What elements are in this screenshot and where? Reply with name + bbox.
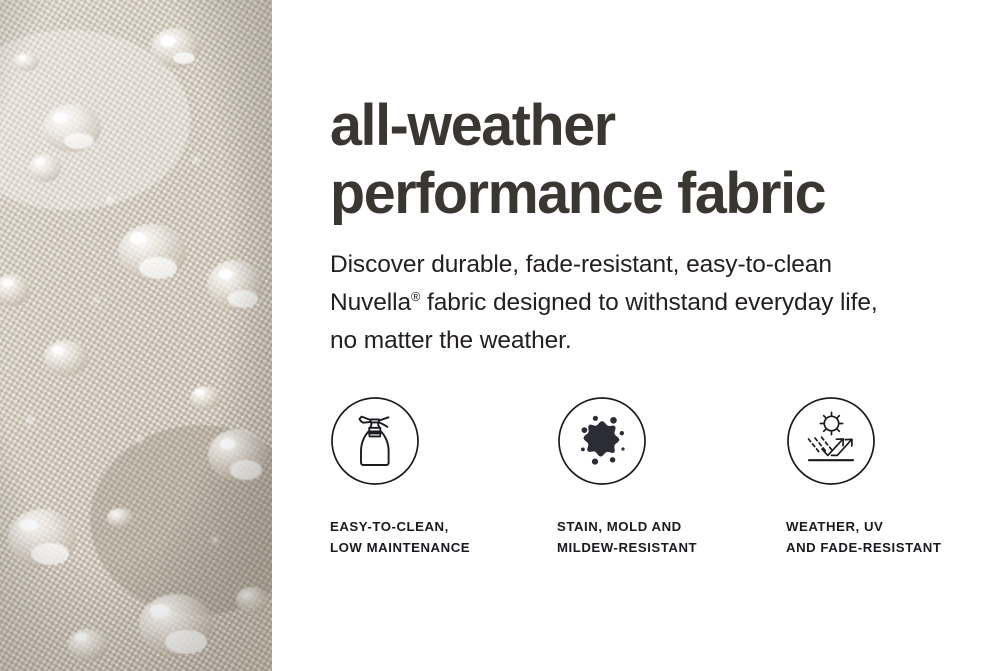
feature-caption: WEATHER, UV AND FADE-RESISTANT [786,486,1001,558]
fabric-photo [0,0,272,671]
brand-name: Nuvella [330,289,411,316]
registered-mark: ® [411,289,420,304]
feature-caption-line-2: MILDEW-RESISTANT [557,537,772,558]
page-title: all-weather performance fabric [330,92,983,228]
feature-easy-to-clean: EASY-TO-CLEAN, LOW MAINTENANCE [330,396,545,558]
feature-badge-list: EASY-TO-CLEAN, LOW MAINTENANCE [330,396,990,576]
content-column: all-weather performance fabric Discover … [330,0,990,671]
feature-caption: EASY-TO-CLEAN, LOW MAINTENANCE [330,486,545,558]
description-line-3: no matter the weather. [330,322,970,360]
fabric-photo-illustration [0,0,272,671]
feature-caption-line-1: STAIN, MOLD AND [557,516,772,537]
spray-bottle-icon [330,396,420,486]
feature-caption-line-1: WEATHER, UV [786,516,1001,537]
stain-splatter-icon [557,396,647,486]
feature-caption-line-2: LOW MAINTENANCE [330,537,545,558]
feature-caption-line-2: AND FADE-RESISTANT [786,537,1001,558]
feature-weather-uv-resistant: WEATHER, UV AND FADE-RESISTANT [786,396,1001,558]
sun-reflect-icon [786,396,876,486]
headline-line-2: performance fabric [330,160,983,228]
feature-caption: STAIN, MOLD AND MILDEW-RESISTANT [557,486,772,558]
fabric-feature-banner: all-weather performance fabric Discover … [0,0,1005,671]
description-text: Discover durable, fade-resistant, easy-t… [330,246,970,360]
feature-caption-line-1: EASY-TO-CLEAN, [330,516,545,537]
description-line-2: Nuvella® fabric designed to withstand ev… [330,284,970,322]
headline-line-1: all-weather [330,92,983,160]
feature-stain-resistant: STAIN, MOLD AND MILDEW-RESISTANT [557,396,772,558]
description-line-2-rest: fabric designed to withstand everyday li… [420,289,877,316]
description-line-1: Discover durable, fade-resistant, easy-t… [330,246,970,284]
